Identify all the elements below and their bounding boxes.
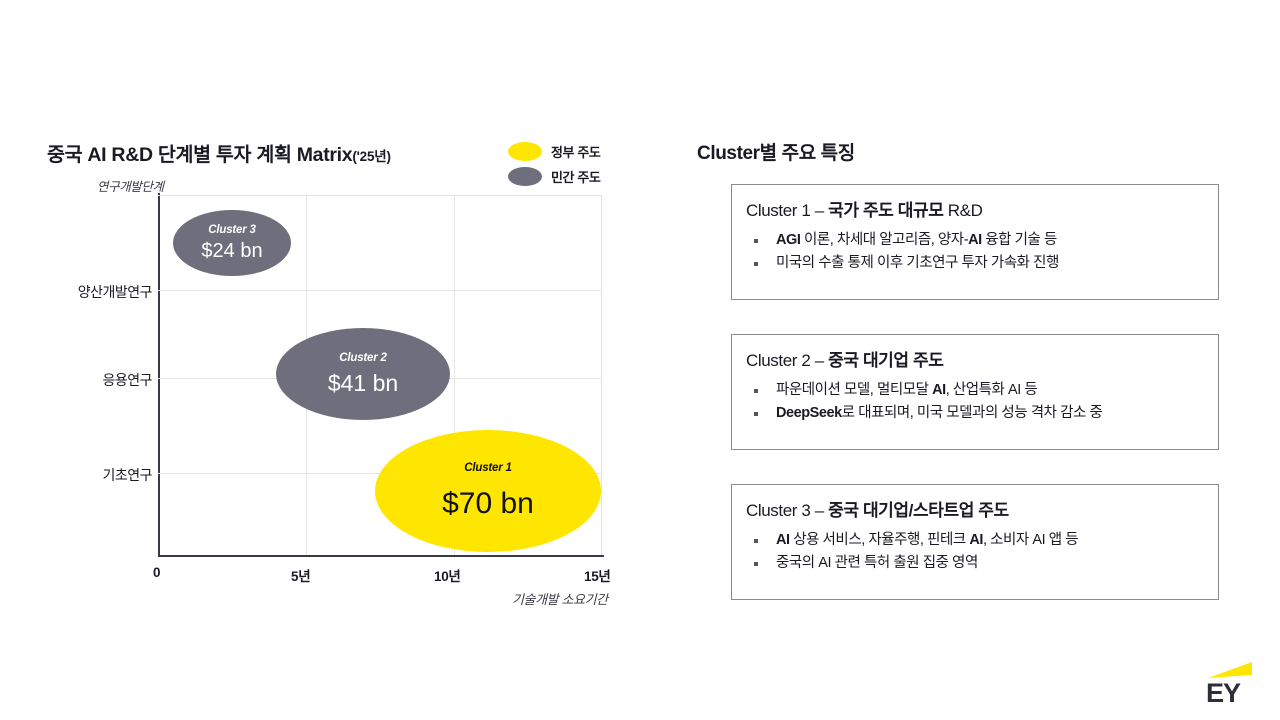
y-axis-title: 연구개발단계 bbox=[97, 176, 164, 195]
bullet-square-icon bbox=[754, 562, 758, 566]
cluster-card-1-heading-strong: 국가 주도 대규모 bbox=[828, 201, 948, 220]
legend-label-private: 민간 주도 bbox=[551, 167, 600, 186]
cluster-card-1-bullets: AGI 이론, 차세대 알고리즘, 양자-AI 융합 기술 등 미국의 수출 통… bbox=[746, 229, 1204, 276]
cluster-card-1: Cluster 1 – 국가 주도 대규모 R&D AGI 이론, 차세대 알고… bbox=[731, 184, 1219, 300]
chart-title-year: ('25년) bbox=[352, 149, 390, 164]
bullet-square-icon bbox=[754, 239, 758, 243]
cluster-card-3: Cluster 3 – 중국 대기업/스타트업 주도 AI 상용 서비스, 자율… bbox=[731, 484, 1219, 600]
cluster-card-3-heading-strong: 중국 대기업/스타트업 주도 bbox=[828, 501, 1009, 520]
cluster-card-2-heading: Cluster 2 – 중국 대기업 주도 bbox=[746, 346, 1204, 371]
bullet-rest-1: 이론, 차세대 알고리즘, 양자- bbox=[800, 232, 968, 248]
svg-text:EY: EY bbox=[1206, 678, 1241, 706]
bullet-rest-1: 미국의 수출 통제 이후 기초연구 투자 가속화 진행 bbox=[776, 255, 1059, 271]
chart-legend: 정부 주도 민간 주도 bbox=[508, 142, 600, 186]
x-tick-label-15y: 15년 bbox=[584, 565, 611, 585]
bullet-bold-1: AGI bbox=[776, 232, 800, 248]
bubble-cluster-3[interactable]: Cluster 3 $24 bn bbox=[173, 210, 291, 276]
legend-swatch-gray-icon bbox=[508, 167, 542, 186]
x-tick-label-0: 0 bbox=[153, 565, 160, 580]
x-axis-line bbox=[158, 555, 604, 557]
bullet-rest-2: 융합 기술 등 bbox=[982, 232, 1057, 248]
chart-title: 중국 AI R&D 단계별 투자 계획 Matrix('25년) bbox=[47, 138, 391, 167]
bullet-text: 중국의 AI 관련 특허 출원 집중 영역 bbox=[776, 552, 978, 575]
y-tick-label-basic-research: 기초연구 bbox=[42, 465, 152, 485]
legend-label-government: 정부 주도 bbox=[551, 142, 600, 161]
bullet-rest-1: 중국의 AI 관련 특허 출원 집중 영역 bbox=[776, 555, 978, 571]
gridline-horizontal-top bbox=[158, 290, 602, 291]
cluster-card-2-heading-prefix: Cluster 2 – bbox=[746, 351, 828, 370]
y-tick-label-applied-research: 응용연구 bbox=[42, 370, 152, 390]
bullet-bold-1: DeepSeek bbox=[776, 405, 842, 421]
x-tick-label-5y: 5년 bbox=[291, 565, 310, 585]
bullet-bold-2: AI bbox=[968, 232, 982, 248]
legend-swatch-yellow-icon bbox=[508, 142, 542, 161]
cluster-card-3-bullets: AI 상용 서비스, 자율주행, 핀테크 AI, 소비자 AI 앱 등 중국의 … bbox=[746, 529, 1204, 576]
x-tick-label-10y: 10년 bbox=[434, 565, 461, 585]
cluster-card-2: Cluster 2 – 중국 대기업 주도 파운데이션 모델, 멀티모달 AI,… bbox=[731, 334, 1219, 450]
bubble-cluster-2[interactable]: Cluster 2 $41 bn bbox=[276, 328, 450, 420]
bullet-rest-2: , 산업특화 AI 등 bbox=[946, 382, 1038, 398]
list-item: 미국의 수출 통제 이후 기초연구 투자 가속화 진행 bbox=[746, 252, 1204, 275]
list-item: 중국의 AI 관련 특허 출원 집중 영역 bbox=[746, 552, 1204, 575]
cluster-card-2-heading-strong: 중국 대기업 주도 bbox=[828, 351, 943, 370]
bubble-cluster-1[interactable]: Cluster 1 $70 bn bbox=[375, 430, 601, 552]
ey-logo-icon: EY bbox=[1178, 662, 1252, 706]
cluster-card-2-bullets: 파운데이션 모델, 멀티모달 AI, 산업특화 AI 등 DeepSeek로 대… bbox=[746, 379, 1204, 426]
list-item: AI 상용 서비스, 자율주행, 핀테크 AI, 소비자 AI 앱 등 bbox=[746, 529, 1204, 552]
bullet-bold-1: AI bbox=[776, 532, 790, 548]
list-item: 파운데이션 모델, 멀티모달 AI, 산업특화 AI 등 bbox=[746, 379, 1204, 402]
cluster-card-1-heading: Cluster 1 – 국가 주도 대규모 R&D bbox=[746, 196, 1204, 221]
bullet-text: AI 상용 서비스, 자율주행, 핀테크 AI, 소비자 AI 앱 등 bbox=[776, 529, 1078, 552]
cluster-card-3-heading: Cluster 3 – 중국 대기업/스타트업 주도 bbox=[746, 496, 1204, 521]
right-panel-title: Cluster별 주요 특징 bbox=[697, 138, 855, 165]
bubble-cluster-2-value: $41 bn bbox=[328, 372, 398, 395]
bubble-cluster-3-value: $24 bn bbox=[201, 241, 262, 261]
bullet-text: 파운데이션 모델, 멀티모달 AI, 산업특화 AI 등 bbox=[776, 379, 1037, 402]
bullet-square-icon bbox=[754, 412, 758, 416]
bubble-cluster-2-name: Cluster 2 bbox=[339, 353, 386, 365]
bullet-square-icon bbox=[754, 262, 758, 266]
bubble-cluster-3-name: Cluster 3 bbox=[208, 225, 255, 237]
bullet-bold-2: AI bbox=[969, 532, 983, 548]
y-tick-label-production-dev: 양산개발연구 bbox=[42, 282, 152, 302]
bubble-cluster-1-value: $70 bn bbox=[442, 489, 534, 519]
bullet-rest-2: , 소비자 AI 앱 등 bbox=[983, 532, 1078, 548]
chart-title-main: 중국 AI R&D 단계별 투자 계획 Matrix bbox=[47, 144, 352, 166]
bullet-text: 미국의 수출 통제 이후 기초연구 투자 가속화 진행 bbox=[776, 252, 1059, 275]
bullet-rest-1: 로 대표되며, 미국 모델과의 성능 격차 감소 중 bbox=[842, 405, 1103, 421]
bullet-text: DeepSeek로 대표되며, 미국 모델과의 성능 격차 감소 중 bbox=[776, 402, 1102, 425]
cluster-card-1-heading-prefix: Cluster 1 – bbox=[746, 201, 828, 220]
cluster-card-1-heading-suffix: R&D bbox=[948, 201, 983, 220]
list-item: DeepSeek로 대표되며, 미국 모델과의 성능 격차 감소 중 bbox=[746, 402, 1204, 425]
bullet-text: AGI 이론, 차세대 알고리즘, 양자-AI 융합 기술 등 bbox=[776, 229, 1057, 252]
bullet-square-icon bbox=[754, 539, 758, 543]
legend-item-government: 정부 주도 bbox=[508, 142, 600, 161]
list-item: AGI 이론, 차세대 알고리즘, 양자-AI 융합 기술 등 bbox=[746, 229, 1204, 252]
legend-item-private: 민간 주도 bbox=[508, 167, 600, 186]
slide-root: 중국 AI R&D 단계별 투자 계획 Matrix('25년) 정부 주도 민… bbox=[0, 0, 1280, 720]
bullet-square-icon bbox=[754, 389, 758, 393]
bubble-cluster-1-name: Cluster 1 bbox=[464, 463, 511, 475]
bullet-bold-2: AI bbox=[932, 382, 946, 398]
bullet-rest-1: 파운데이션 모델, 멀티모달 bbox=[776, 382, 932, 398]
cluster-card-3-heading-prefix: Cluster 3 – bbox=[746, 501, 828, 520]
x-axis-title: 기술개발 소요기간 bbox=[512, 589, 608, 608]
bullet-rest-1: 상용 서비스, 자율주행, 핀테크 bbox=[790, 532, 970, 548]
